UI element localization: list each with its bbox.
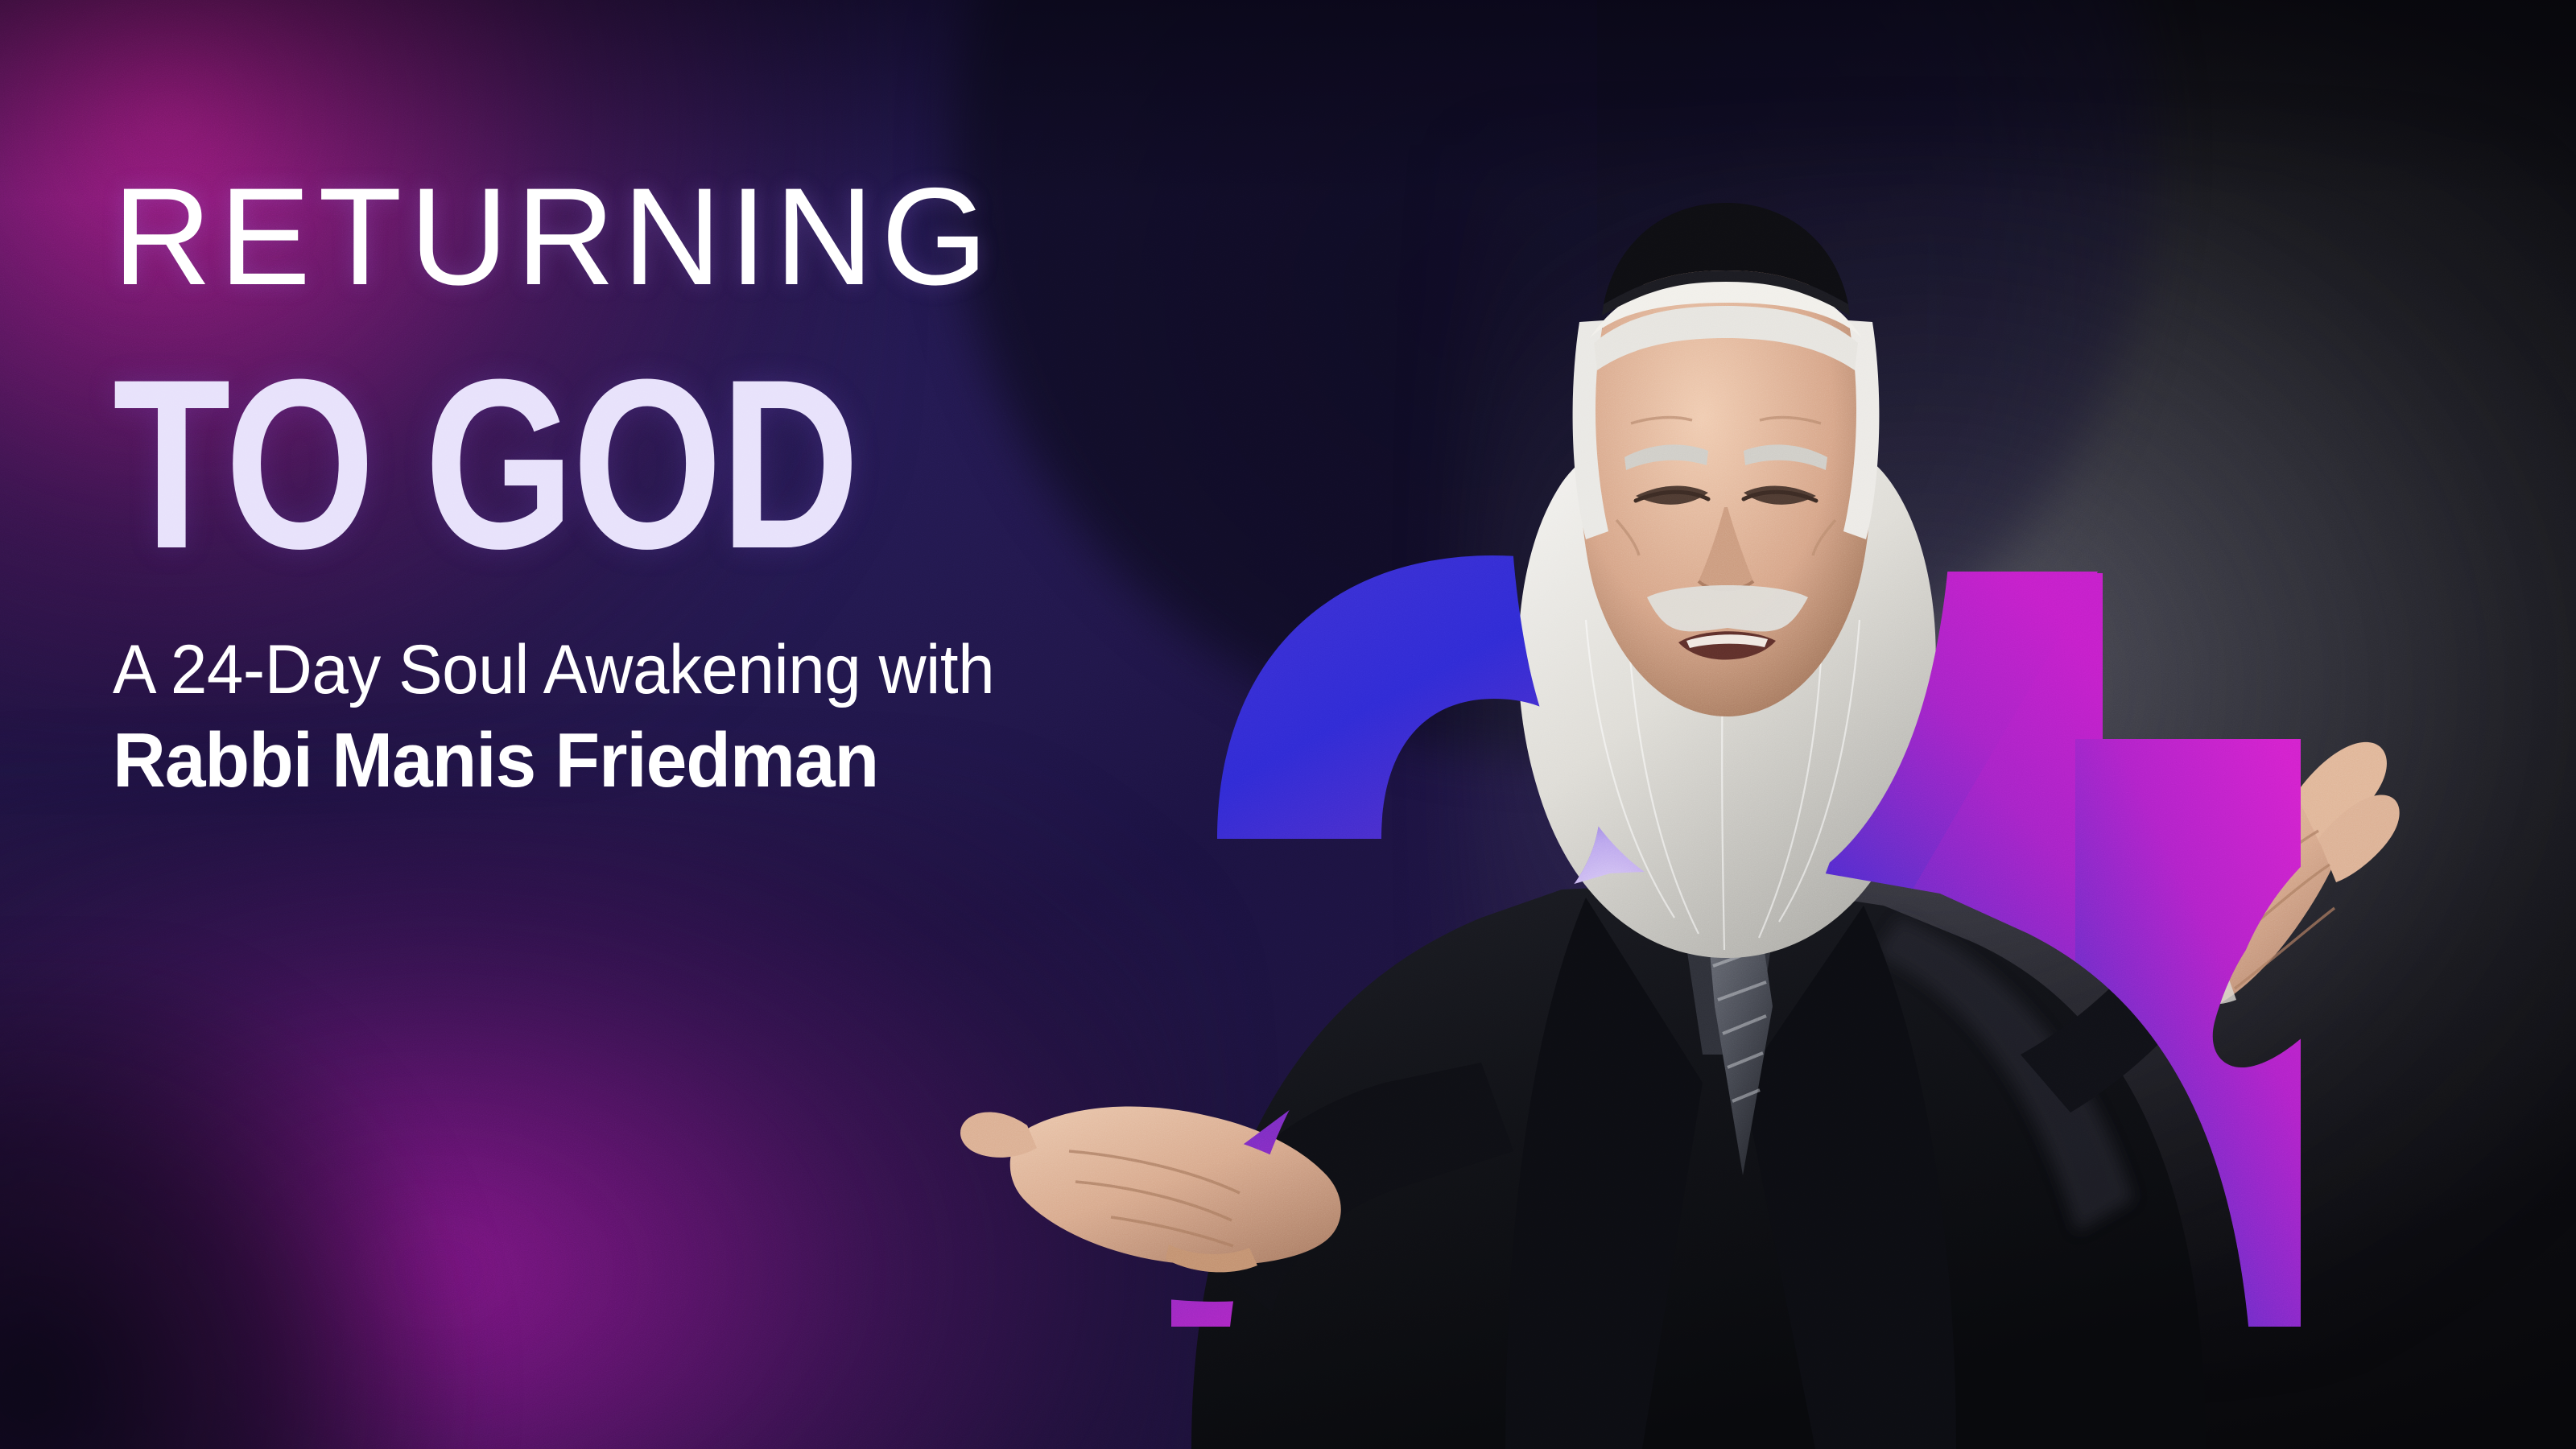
headline-text-block: RETURNING TO GOD A 24-Day Soul Awakening… [113, 173, 1280, 799]
kicker-returning: RETURNING [113, 173, 1269, 300]
subtitle-line-1: A 24-Day Soul Awakening with [113, 635, 1222, 704]
subtitle-line-2-speaker-name: Rabbi Manis Friedman [113, 722, 1222, 799]
vignette-bottom-left [0, 966, 483, 1449]
headline-to-god: TO GOD [113, 369, 1046, 558]
poster-canvas: RETURNING TO GOD A 24-Day Soul Awakening… [0, 0, 2576, 1449]
